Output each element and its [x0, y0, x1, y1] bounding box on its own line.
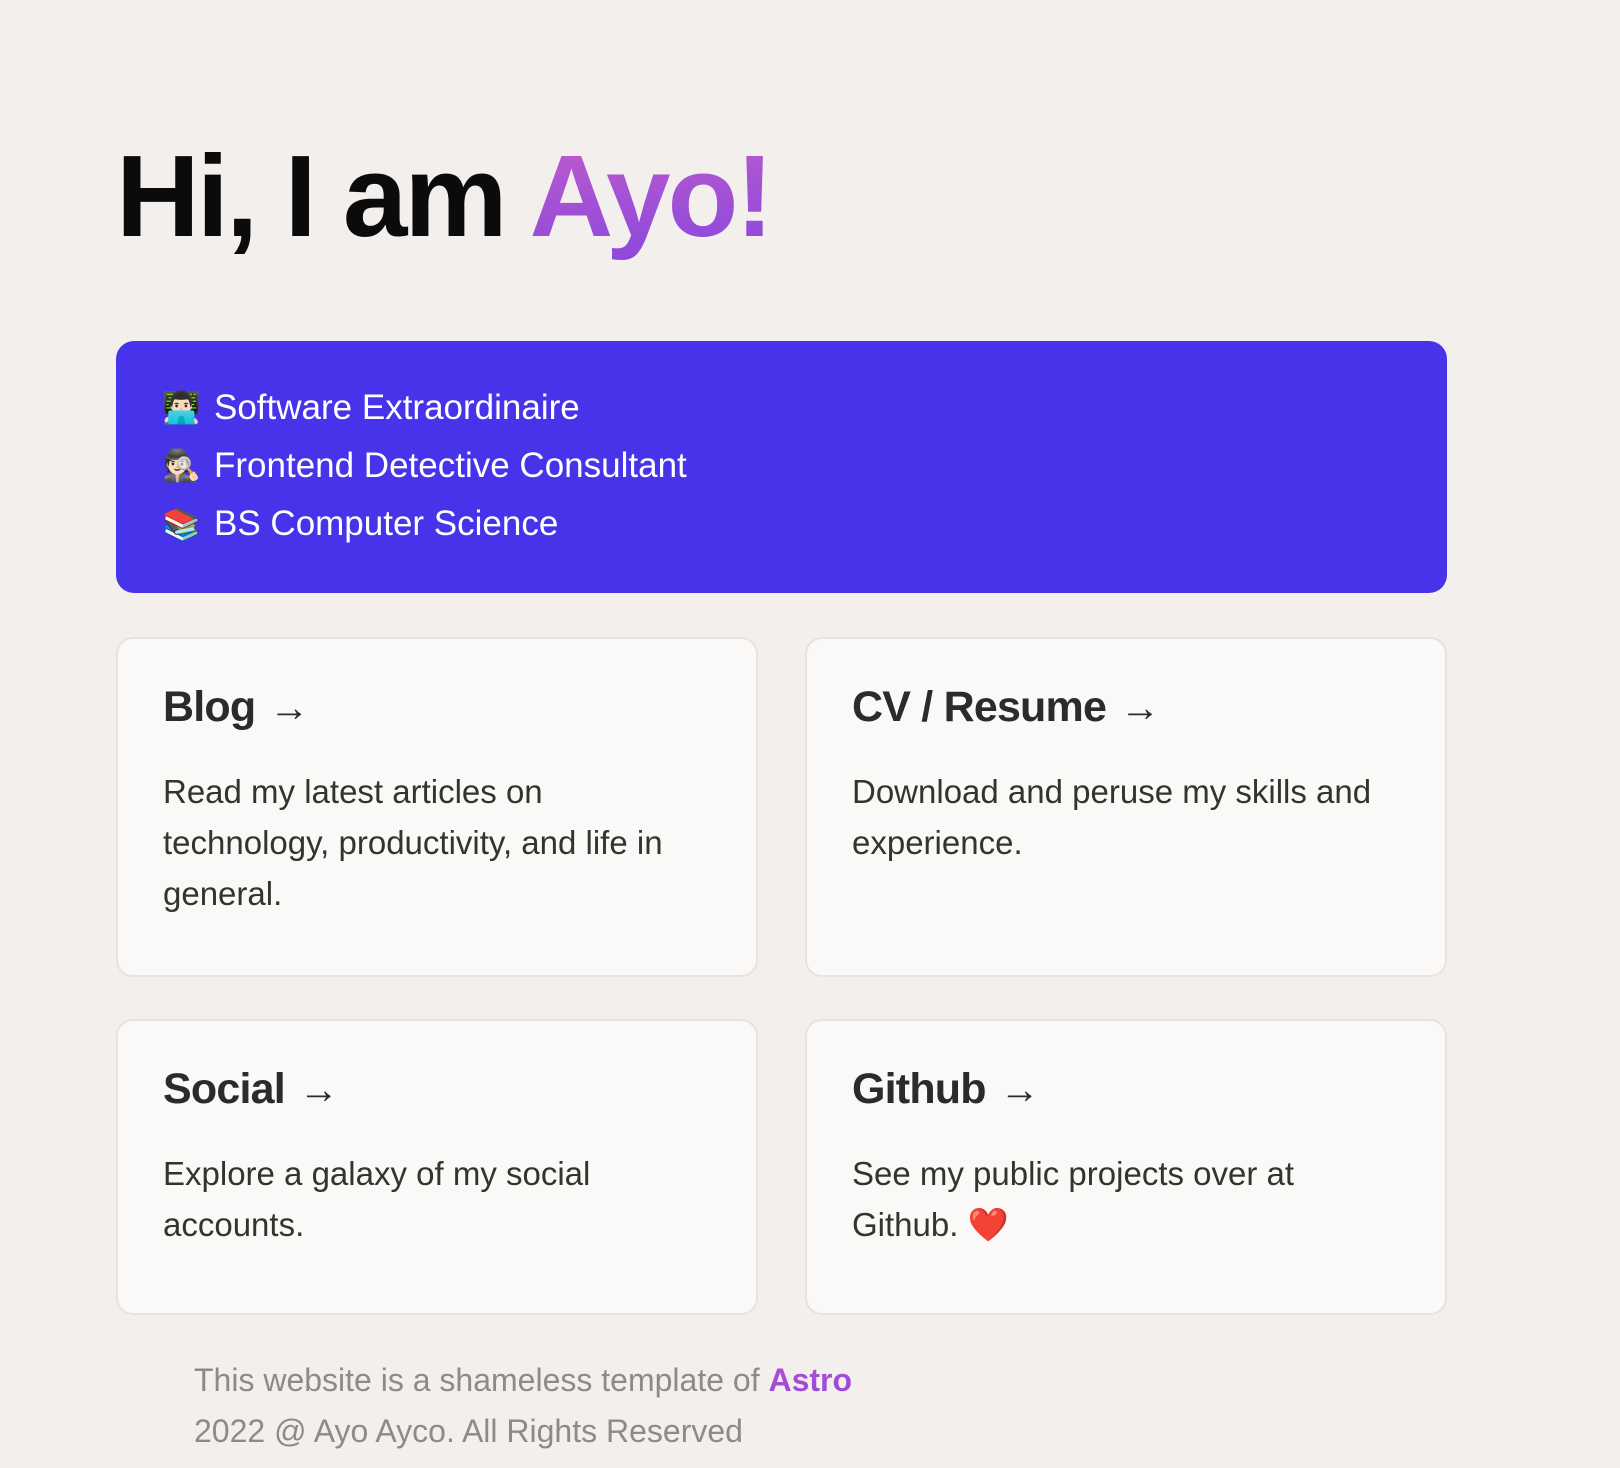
footer-template-prefix: This website is a shameless template of [194, 1362, 768, 1398]
card-cv-resume-description: Download and peruse my skills and experi… [852, 766, 1400, 868]
intro-label-software: Software Extraordinaire [214, 379, 580, 437]
intro-label-degree: BS Computer Science [214, 495, 558, 553]
footer-template-line: This website is a shameless template of … [194, 1355, 1447, 1406]
arrow-right-icon: → [1120, 688, 1159, 728]
card-github-title-text: Github [852, 1065, 986, 1114]
intro-list-item-frontend: 🕵🏻 Frontend Detective Consultant [162, 437, 1401, 495]
card-github-description: See my public projects over at Github. ❤… [852, 1148, 1400, 1250]
card-blog-title-text: Blog [163, 683, 255, 732]
intro-list-item-degree: 📚 BS Computer Science [162, 495, 1401, 553]
card-cv-resume[interactable]: CV / Resume → Download and peruse my ski… [805, 637, 1447, 977]
card-github-title: Github → [852, 1065, 1400, 1114]
card-blog-title: Blog → [163, 683, 711, 732]
content-container: Hi, I am Ayo! 👨🏻‍💻 Software Extraordinai… [116, 0, 1447, 1456]
footer-copyright: 2022 @ Ayo Ayco. All Rights Reserved [194, 1406, 1447, 1457]
arrow-right-icon: → [299, 1070, 338, 1110]
astro-link[interactable]: Astro [768, 1362, 852, 1398]
card-social-title-text: Social [163, 1065, 285, 1114]
card-github[interactable]: Github → See my public projects over at … [805, 1019, 1447, 1315]
detective-emoji: 🕵🏻 [162, 450, 200, 481]
technologist-emoji: 👨🏻‍💻 [162, 392, 200, 423]
intro-list: 👨🏻‍💻 Software Extraordinaire 🕵🏻 Frontend… [162, 379, 1401, 553]
arrow-right-icon: → [1000, 1070, 1039, 1110]
card-blog[interactable]: Blog → Read my latest articles on techno… [116, 637, 758, 977]
card-blog-description: Read my latest articles on technology, p… [163, 766, 711, 919]
link-card-grid: Blog → Read my latest articles on techno… [116, 637, 1447, 1315]
page-footer: This website is a shameless template of … [116, 1355, 1447, 1456]
intro-banner: 👨🏻‍💻 Software Extraordinaire 🕵🏻 Frontend… [116, 341, 1447, 593]
page-root: Hi, I am Ayo! 👨🏻‍💻 Software Extraordinai… [0, 0, 1620, 1468]
intro-list-item-software: 👨🏻‍💻 Software Extraordinaire [162, 379, 1401, 437]
intro-label-frontend: Frontend Detective Consultant [214, 437, 687, 495]
books-emoji: 📚 [162, 509, 200, 540]
card-cv-resume-title: CV / Resume → [852, 683, 1400, 732]
arrow-right-icon: → [269, 688, 308, 728]
card-social-description: Explore a galaxy of my social accounts. [163, 1148, 711, 1250]
hero-greeting: Hi, I am [116, 131, 530, 261]
page-title: Hi, I am Ayo! [116, 78, 1447, 263]
card-cv-resume-title-text: CV / Resume [852, 683, 1106, 732]
hero-name-accent: Ayo! [530, 131, 771, 261]
card-social[interactable]: Social → Explore a galaxy of my social a… [116, 1019, 758, 1315]
card-social-title: Social → [163, 1065, 711, 1114]
